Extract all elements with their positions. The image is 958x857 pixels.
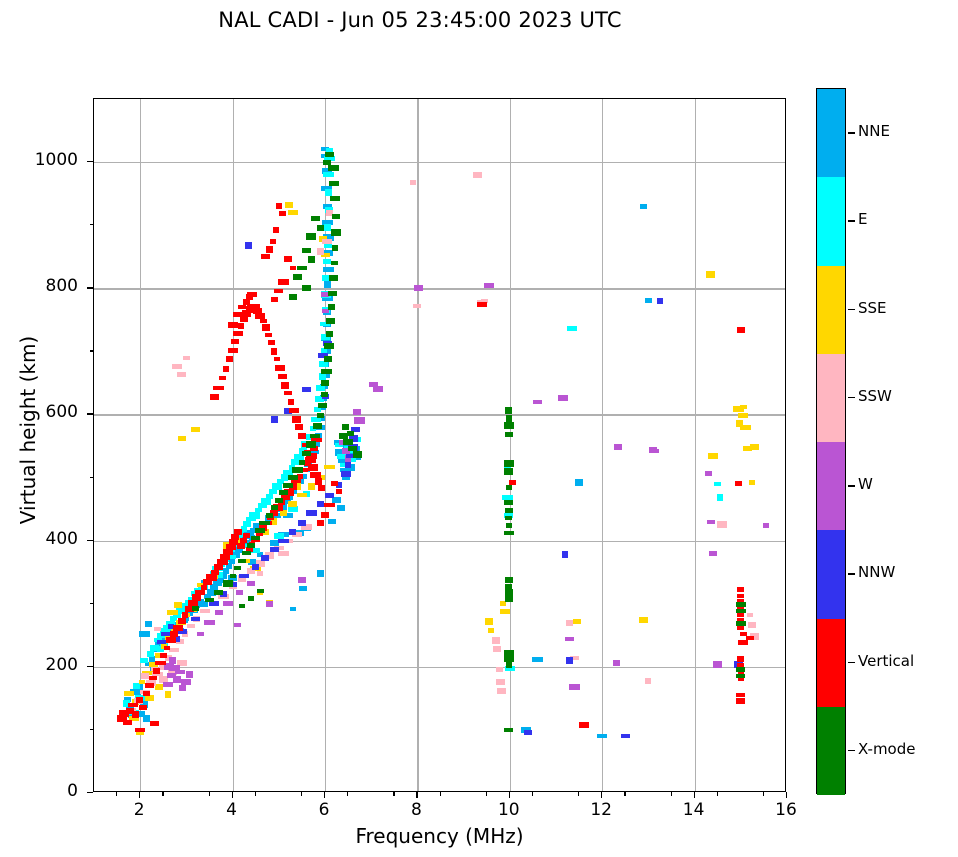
- data-point: [505, 508, 513, 513]
- data-point: [274, 289, 283, 293]
- data-point: [197, 632, 204, 636]
- data-point: [317, 570, 324, 577]
- data-point: [325, 152, 334, 157]
- data-point: [708, 453, 718, 459]
- data-point: [323, 172, 334, 177]
- x-tick: [416, 792, 417, 798]
- y-tick: [87, 287, 93, 288]
- data-point: [328, 165, 338, 171]
- data-point: [749, 480, 755, 484]
- data-point: [275, 498, 283, 503]
- x-tick: [786, 792, 787, 798]
- data-point: [278, 551, 289, 556]
- data-point: [331, 261, 338, 265]
- data-point: [324, 356, 332, 362]
- data-point: [337, 505, 345, 511]
- data-point: [326, 318, 335, 324]
- data-point: [558, 395, 569, 400]
- data-point: [245, 242, 252, 248]
- data-point: [321, 369, 332, 374]
- data-point: [284, 391, 291, 395]
- data-point: [165, 691, 171, 698]
- y-tick: [87, 161, 93, 162]
- data-point: [492, 637, 500, 644]
- data-point: [292, 467, 303, 472]
- data-point: [331, 229, 341, 236]
- data-point: [266, 601, 273, 607]
- x-tick-label: 2: [109, 800, 169, 820]
- data-point: [506, 523, 512, 528]
- data-point: [324, 281, 331, 288]
- x-tick-label: 12: [571, 800, 631, 820]
- data-point: [506, 485, 512, 490]
- y-tick: [87, 792, 93, 793]
- x-tick: [694, 792, 695, 798]
- data-point: [567, 326, 577, 330]
- grid-line-horizontal: [94, 541, 785, 542]
- data-point: [290, 607, 296, 611]
- data-point: [566, 620, 573, 626]
- data-point: [488, 628, 494, 633]
- data-point: [306, 510, 317, 517]
- data-point: [738, 413, 748, 418]
- data-point: [223, 366, 229, 371]
- x-tick-label: 10: [479, 800, 539, 820]
- y-tick-minor: [90, 350, 94, 351]
- data-point: [234, 566, 241, 570]
- data-point: [173, 676, 181, 683]
- data-point: [321, 512, 329, 518]
- data-point: [319, 373, 326, 379]
- data-point: [506, 661, 512, 668]
- data-point: [477, 302, 487, 306]
- data-point: [737, 594, 744, 598]
- data-point: [707, 520, 715, 524]
- data-point: [317, 248, 324, 255]
- data-point: [747, 613, 753, 617]
- data-point: [353, 409, 361, 415]
- data-point: [493, 646, 501, 652]
- data-point: [330, 196, 340, 201]
- x-tick: [601, 792, 602, 798]
- data-point: [736, 698, 745, 704]
- data-point: [238, 305, 246, 309]
- data-point: [317, 520, 324, 526]
- data-point: [506, 415, 512, 422]
- data-point: [410, 180, 416, 185]
- data-point: [329, 181, 339, 185]
- data-point: [178, 618, 186, 624]
- data-point: [281, 382, 289, 389]
- data-point: [621, 734, 630, 739]
- x-tick-minor: [255, 792, 256, 796]
- data-point: [473, 172, 481, 178]
- data-point: [325, 493, 334, 498]
- data-point: [169, 657, 177, 664]
- colorbar-band-e: [817, 177, 845, 265]
- data-point: [533, 400, 542, 405]
- data-point: [243, 521, 251, 528]
- data-point: [204, 620, 215, 625]
- colorbar-label-nne: NNE: [858, 122, 890, 140]
- data-point: [353, 451, 362, 458]
- x-tick-label: 16: [756, 800, 816, 820]
- data-point: [200, 609, 210, 613]
- data-point: [192, 594, 200, 600]
- data-point: [293, 274, 302, 279]
- data-point: [613, 660, 620, 666]
- data-point: [219, 376, 226, 381]
- data-point: [233, 331, 243, 336]
- colorbar-band-sse: [817, 266, 845, 354]
- data-point: [321, 392, 328, 397]
- y-tick: [87, 666, 93, 667]
- data-point: [155, 661, 166, 666]
- data-point: [332, 245, 338, 250]
- data-point: [306, 441, 316, 448]
- data-point: [373, 386, 383, 392]
- data-point: [166, 637, 176, 643]
- data-point: [657, 298, 663, 303]
- y-tick: [87, 413, 93, 414]
- data-point: [504, 468, 513, 475]
- data-point: [321, 380, 329, 386]
- data-point: [145, 621, 151, 627]
- data-point: [173, 625, 184, 631]
- colorbar-tick: [848, 573, 855, 574]
- data-point: [331, 481, 338, 486]
- data-point: [239, 604, 245, 608]
- colorbar-label-x-mode: X-mode: [858, 740, 915, 758]
- x-tick-minor: [532, 792, 533, 796]
- data-point: [257, 571, 263, 577]
- colorbar-band-nnw: [817, 530, 845, 618]
- data-point: [614, 444, 622, 450]
- data-point: [243, 533, 250, 538]
- data-point: [308, 464, 319, 470]
- data-point: [271, 505, 278, 510]
- data-point: [562, 551, 568, 557]
- data-point: [652, 449, 660, 453]
- data-point: [505, 589, 513, 596]
- data-point: [271, 297, 278, 302]
- x-tick-minor: [440, 792, 441, 796]
- data-point: [318, 403, 327, 408]
- data-point: [128, 703, 137, 707]
- data-point: [709, 551, 717, 556]
- data-point: [247, 543, 256, 547]
- data-point: [141, 673, 149, 679]
- data-point: [205, 598, 214, 603]
- data-point: [163, 682, 172, 687]
- data-point: [279, 211, 287, 216]
- data-point: [234, 529, 242, 535]
- data-point: [270, 547, 279, 552]
- data-point: [324, 343, 334, 349]
- y-tick-minor: [90, 224, 94, 225]
- data-point: [706, 271, 715, 277]
- data-point: [310, 434, 320, 439]
- colorbar-tick: [848, 132, 855, 133]
- data-point: [262, 324, 270, 331]
- data-point: [329, 275, 337, 281]
- data-point: [308, 256, 315, 263]
- data-point: [297, 493, 308, 498]
- data-point: [172, 364, 183, 369]
- data-point: [736, 621, 746, 626]
- data-point: [211, 570, 218, 575]
- y-tick-minor: [90, 729, 94, 730]
- data-point: [565, 637, 574, 641]
- data-point: [299, 460, 306, 466]
- data-point: [233, 312, 243, 317]
- data-point: [242, 551, 250, 555]
- data-point: [332, 214, 340, 220]
- data-point: [750, 444, 759, 450]
- y-tick-label: 1000: [0, 150, 78, 170]
- data-point: [735, 481, 741, 486]
- x-tick-label: 4: [202, 800, 262, 820]
- data-point: [288, 506, 298, 512]
- data-point: [278, 279, 289, 285]
- data-point: [255, 528, 265, 533]
- x-tick-minor: [578, 792, 579, 796]
- data-point: [284, 256, 292, 262]
- data-point: [341, 471, 351, 477]
- grid-line-vertical: [695, 99, 696, 791]
- data-point: [132, 711, 139, 718]
- data-point: [569, 684, 580, 690]
- data-point: [206, 574, 216, 581]
- x-tick-minor: [671, 792, 672, 796]
- data-point: [288, 210, 298, 215]
- y-tick-label: 200: [0, 655, 78, 675]
- data-point: [297, 266, 308, 271]
- data-point: [737, 327, 745, 333]
- grid-line-horizontal: [94, 288, 785, 289]
- data-point: [275, 365, 285, 371]
- data-point: [290, 266, 296, 270]
- data-point: [239, 574, 249, 578]
- data-point: [289, 294, 297, 300]
- data-point: [484, 283, 493, 288]
- data-point: [295, 424, 304, 431]
- data-point: [736, 420, 743, 427]
- grid-line-vertical: [417, 99, 418, 791]
- data-point: [261, 254, 270, 259]
- data-point: [236, 590, 244, 595]
- data-point: [328, 304, 335, 310]
- data-point: [154, 627, 161, 631]
- data-point: [645, 298, 652, 303]
- data-point: [191, 617, 200, 621]
- data-point: [266, 513, 273, 518]
- x-tick: [509, 792, 510, 798]
- data-point: [313, 423, 321, 429]
- data-point: [226, 356, 233, 361]
- data-point: [575, 479, 583, 486]
- data-point: [234, 623, 241, 627]
- data-point: [183, 356, 190, 360]
- data-point: [573, 619, 581, 624]
- x-axis-title: Frequency (MHz): [93, 824, 786, 848]
- grid-line-horizontal: [94, 414, 785, 415]
- colorbar-tick: [848, 485, 855, 486]
- data-point: [302, 387, 311, 392]
- data-point: [505, 596, 513, 602]
- data-point: [318, 485, 325, 491]
- data-point: [289, 408, 299, 413]
- data-point: [308, 483, 315, 490]
- grid-line-horizontal: [94, 667, 785, 668]
- data-point: [136, 697, 143, 703]
- data-point: [278, 374, 287, 379]
- data-point: [738, 640, 748, 645]
- y-tick-minor: [90, 603, 94, 604]
- y-tick: [87, 540, 93, 541]
- data-point: [324, 465, 335, 469]
- data-point: [292, 416, 301, 422]
- data-point: [271, 416, 278, 423]
- x-tick: [232, 792, 233, 798]
- data-point: [305, 457, 316, 462]
- data-point: [153, 668, 160, 674]
- data-point: [257, 589, 264, 594]
- data-point: [297, 474, 304, 479]
- data-point: [328, 291, 338, 296]
- data-point: [645, 678, 651, 684]
- colorbar-tick: [848, 220, 855, 221]
- data-point: [251, 536, 261, 541]
- x-tick-label: 8: [386, 800, 446, 820]
- data-point: [169, 648, 179, 652]
- data-point: [288, 399, 294, 405]
- data-point: [247, 292, 257, 297]
- data-point: [266, 246, 274, 253]
- grid-line-horizontal: [94, 162, 785, 163]
- data-point: [278, 539, 289, 543]
- data-point: [135, 728, 145, 732]
- colorbar-label-ssw: SSW: [858, 387, 892, 405]
- data-point: [248, 596, 255, 600]
- data-point: [306, 233, 316, 240]
- x-tick-label: 6: [294, 800, 354, 820]
- colorbar-band-x-mode: [817, 707, 845, 795]
- colorbar-label-sse: SSE: [858, 299, 887, 317]
- data-point: [323, 267, 334, 272]
- data-point: [139, 705, 148, 710]
- data-point: [738, 677, 744, 681]
- data-point: [343, 439, 353, 445]
- data-point: [145, 695, 154, 701]
- data-point: [298, 433, 306, 439]
- data-point: [223, 549, 233, 555]
- data-point: [214, 590, 223, 595]
- data-point: [705, 471, 711, 476]
- data-point: [317, 501, 324, 507]
- data-point: [140, 658, 148, 663]
- colorbar-tick: [848, 309, 855, 310]
- data-point: [279, 490, 288, 495]
- data-point: [566, 657, 573, 663]
- data-point: [714, 482, 722, 487]
- x-tick-minor: [486, 792, 487, 796]
- data-point: [504, 728, 513, 733]
- chart-title: NAL CADI - Jun 05 23:45:00 2023 UTC: [0, 8, 840, 32]
- grid-line-vertical: [233, 99, 234, 791]
- data-point: [311, 216, 320, 221]
- data-point: [167, 610, 178, 615]
- data-point: [505, 516, 512, 521]
- data-point: [283, 483, 292, 488]
- data-point: [413, 304, 421, 308]
- data-point: [345, 462, 352, 468]
- data-point: [147, 651, 153, 656]
- data-point: [326, 331, 333, 337]
- data-point: [504, 460, 514, 467]
- data-point: [179, 685, 186, 691]
- data-point: [271, 348, 277, 355]
- data-point: [737, 587, 744, 592]
- data-point: [228, 322, 238, 328]
- colorbar-band-w: [817, 442, 845, 530]
- data-point: [270, 239, 276, 245]
- grid-line-vertical: [510, 99, 511, 791]
- data-point: [215, 610, 223, 616]
- data-point: [717, 494, 723, 501]
- data-point: [164, 646, 170, 650]
- data-point: [261, 498, 271, 505]
- data-point: [266, 494, 273, 499]
- data-point: [247, 581, 256, 585]
- x-tick: [324, 792, 325, 798]
- data-point: [736, 674, 745, 678]
- data-point: [579, 722, 589, 729]
- x-tick-minor: [347, 792, 348, 796]
- data-point: [302, 285, 311, 291]
- data-point: [504, 650, 514, 657]
- data-point: [348, 446, 357, 451]
- x-tick-minor: [717, 792, 718, 796]
- data-point: [273, 227, 279, 233]
- data-point: [195, 590, 205, 594]
- data-point: [249, 512, 260, 518]
- data-point: [532, 657, 542, 662]
- data-point: [736, 609, 746, 613]
- x-tick-minor: [116, 792, 117, 796]
- data-point: [143, 691, 151, 696]
- data-point: [288, 475, 298, 480]
- data-point: [226, 544, 236, 550]
- data-point: [174, 602, 183, 608]
- data-point: [505, 432, 513, 437]
- data-point: [149, 676, 157, 680]
- data-point: [524, 730, 532, 735]
- data-point: [500, 601, 506, 606]
- data-point: [640, 204, 647, 209]
- data-point: [504, 500, 513, 505]
- data-point: [322, 239, 332, 244]
- data-point: [276, 203, 282, 209]
- data-point: [497, 688, 507, 694]
- data-point: [150, 721, 159, 726]
- x-tick: [139, 792, 140, 798]
- colorbar-tick: [848, 397, 855, 398]
- data-point: [160, 653, 168, 659]
- data-point: [123, 720, 132, 725]
- data-point: [268, 340, 275, 345]
- data-point: [139, 631, 150, 637]
